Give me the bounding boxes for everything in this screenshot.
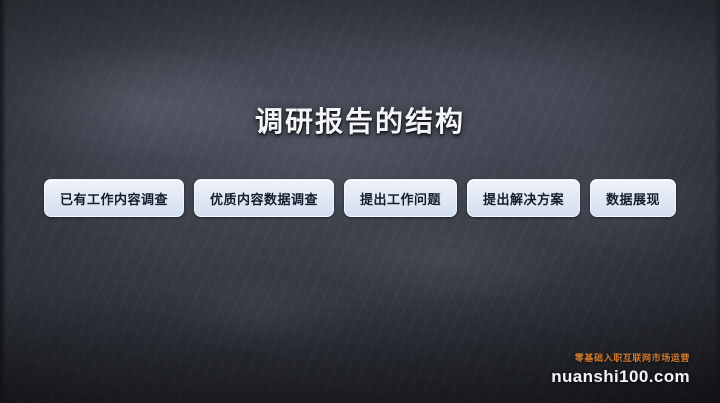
- structure-step-row: 已有工作内容调查 优质内容数据调查 提出工作问题 提出解决方案 数据展现: [0, 179, 720, 217]
- step-pill-label: 已有工作内容调查: [60, 189, 168, 208]
- step-pill-label: 提出工作问题: [360, 189, 441, 208]
- step-pill-label: 优质内容数据调查: [210, 189, 318, 208]
- watermark-tagline: 零基础入职互联网市场运营: [551, 354, 690, 363]
- watermark-url: nuanshi100.com: [551, 368, 690, 385]
- slide-title: 调研报告的结构: [0, 105, 720, 139]
- step-pill-5[interactable]: 数据展现: [590, 179, 676, 217]
- step-pill-2[interactable]: 优质内容数据调查: [194, 179, 334, 217]
- watermark: 零基础入职互联网市场运营 nuanshi100.com: [551, 354, 690, 385]
- slide-canvas: 调研报告的结构 已有工作内容调查 优质内容数据调查 提出工作问题 提出解决方案 …: [0, 0, 720, 403]
- step-pill-label: 提出解决方案: [483, 189, 564, 208]
- step-pill-1[interactable]: 已有工作内容调查: [44, 179, 184, 217]
- step-pill-3[interactable]: 提出工作问题: [344, 179, 457, 217]
- step-pill-4[interactable]: 提出解决方案: [467, 179, 580, 217]
- step-pill-label: 数据展现: [606, 189, 660, 208]
